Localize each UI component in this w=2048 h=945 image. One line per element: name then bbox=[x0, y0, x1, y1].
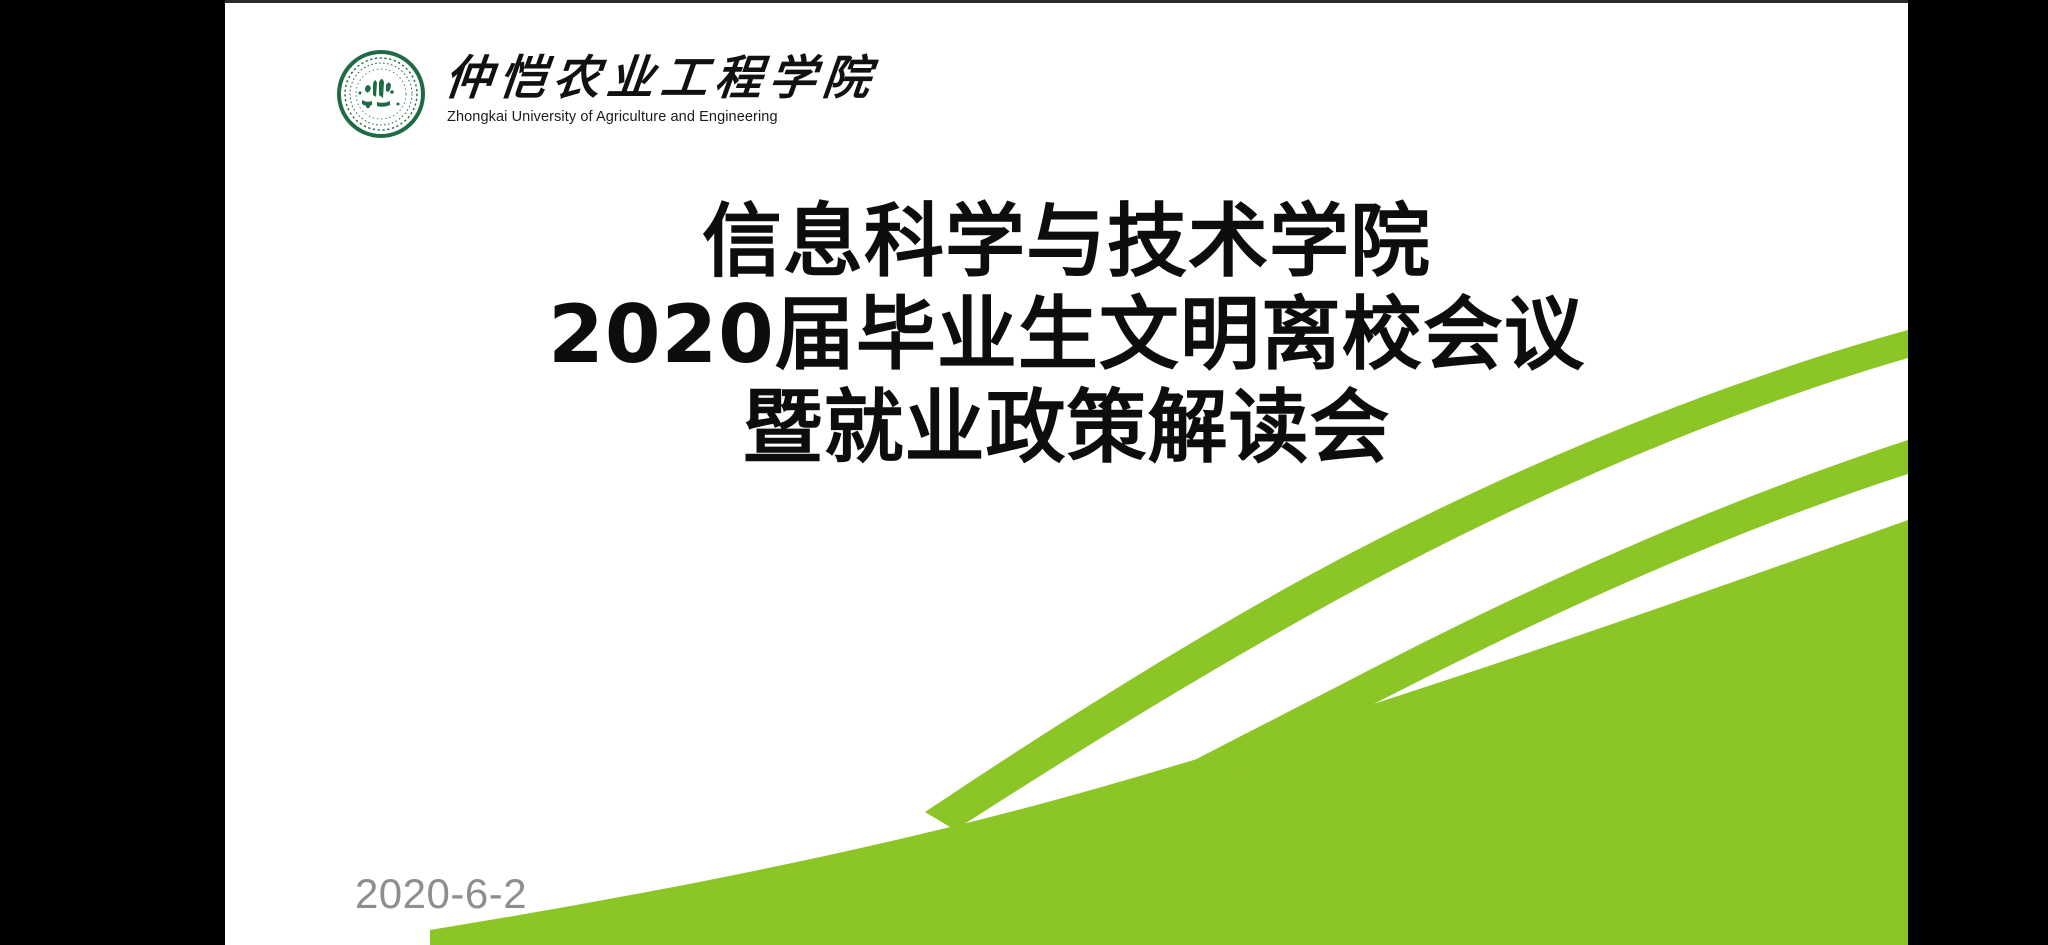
swoosh-ribbon-upper bbox=[1035, 440, 1908, 862]
slide-canvas: 仲恺农业工程学院 Zhongkai University of Agricult… bbox=[225, 0, 1908, 945]
logo-wordmark: 仲恺农业工程学院 Zhongkai University of Agricult… bbox=[445, 48, 877, 125]
university-logo: 仲恺农业工程学院 Zhongkai University of Agricult… bbox=[335, 48, 877, 140]
slide-stage: 仲恺农业工程学院 Zhongkai University of Agricult… bbox=[0, 0, 2048, 945]
logo-english-name: Zhongkai University of Agriculture and E… bbox=[447, 109, 877, 125]
title-line-2: 2020届毕业生文明离校会议 bbox=[225, 289, 1908, 382]
logo-chinese-name: 仲恺农业工程学院 bbox=[442, 54, 879, 104]
slide-top-rule bbox=[225, 0, 1908, 3]
slide-title: 信息科学与技术学院 2020届毕业生文明离校会议 暨就业政策解读会 bbox=[225, 196, 1908, 474]
slide-date: 2020-6-2 bbox=[226, 870, 656, 918]
title-line-1: 信息科学与技术学院 bbox=[225, 196, 1908, 289]
zhongkai-university-seal-icon bbox=[335, 48, 427, 140]
title-line-3: 暨就业政策解读会 bbox=[225, 382, 1908, 475]
